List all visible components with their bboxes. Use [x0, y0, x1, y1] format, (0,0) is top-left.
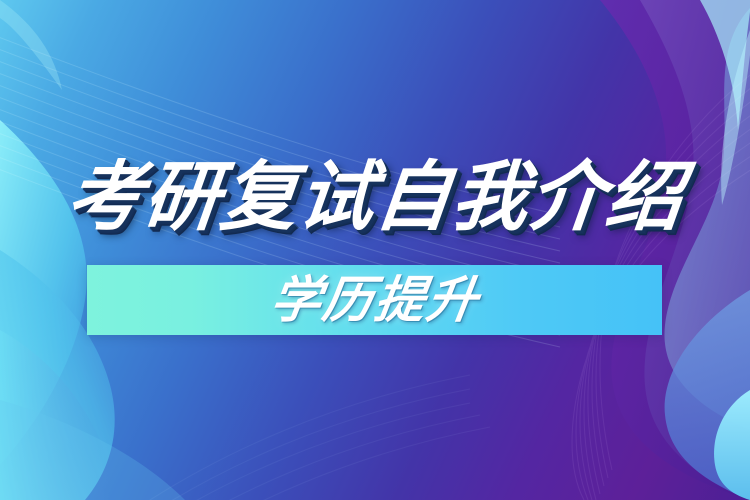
title-container: 考研复试自我介绍	[0, 155, 750, 241]
subtitle-bar: 学历提升	[87, 265, 662, 335]
promo-banner: 考研复试自我介绍 学历提升	[0, 0, 750, 500]
banner-subtitle: 学历提升	[267, 272, 483, 328]
banner-title: 考研复试自我介绍	[62, 155, 687, 241]
background-waves	[0, 0, 750, 500]
